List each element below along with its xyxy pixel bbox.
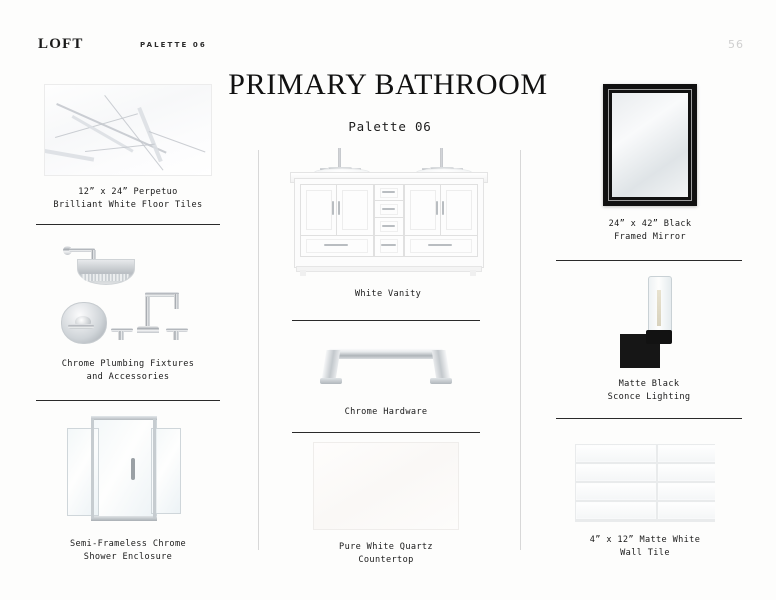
divider-center-2 bbox=[292, 432, 480, 433]
item-chrome-hardware: Chrome Hardware bbox=[312, 336, 460, 419]
black-sconce-image bbox=[612, 272, 686, 368]
caption-chrome-hardware: Chrome Hardware bbox=[312, 406, 460, 419]
divider-right-2 bbox=[556, 418, 742, 419]
item-wall-tile: 4” x 12” Matte White Wall Tile bbox=[575, 444, 732, 559]
white-subway-tile-image bbox=[575, 444, 715, 522]
quartz-swatch-image bbox=[314, 443, 458, 529]
caption-wall-tile: 4” x 12” Matte White Wall Tile bbox=[558, 534, 732, 559]
column-divider-right bbox=[520, 150, 521, 550]
item-black-framed-mirror: 24” x 42” Black Framed Mirror bbox=[603, 84, 737, 243]
caption-quartz-countertop: Pure White Quartz Countertop bbox=[314, 541, 458, 566]
caption-black-framed-mirror: 24” x 42” Black Framed Mirror bbox=[563, 218, 737, 243]
glass-shower-enclosure-image bbox=[45, 414, 211, 526]
caption-plumbing-fixtures: Chrome Plumbing Fixtures and Accessories bbox=[45, 358, 211, 383]
divider-left-1 bbox=[36, 224, 220, 225]
item-plumbing-fixtures: Chrome Plumbing Fixtures and Accessories bbox=[45, 232, 211, 383]
palette-board-page: LOFT PALETTE 06 56 PRIMARY BATHROOM Pale… bbox=[0, 0, 776, 600]
chrome-cabinet-pull-image bbox=[312, 336, 460, 394]
divider-left-2 bbox=[36, 400, 220, 401]
caption-black-sconce: Matte Black Sconce Lighting bbox=[562, 378, 736, 403]
caption-floor-tile: 12” x 24” Perpetuo Brilliant White Floor… bbox=[45, 186, 211, 211]
brand-logo: LOFT bbox=[38, 36, 84, 53]
column-divider-left bbox=[258, 150, 259, 550]
marble-tile-swatch-image bbox=[45, 85, 211, 175]
divider-right-1 bbox=[556, 260, 742, 261]
chrome-fixtures-image bbox=[45, 232, 211, 350]
black-framed-mirror-image bbox=[603, 84, 697, 206]
item-floor-tile: 12” x 24” Perpetuo Brilliant White Floor… bbox=[45, 85, 211, 211]
caption-white-vanity: White Vanity bbox=[290, 288, 486, 301]
item-black-sconce: Matte Black Sconce Lighting bbox=[612, 272, 736, 403]
page-number: 56 bbox=[728, 38, 744, 51]
white-double-vanity-image bbox=[290, 145, 486, 277]
item-shower-enclosure: Semi-Frameless Chrome Shower Enclosure bbox=[45, 414, 211, 563]
divider-center-1 bbox=[292, 320, 480, 321]
caption-shower-enclosure: Semi-Frameless Chrome Shower Enclosure bbox=[45, 538, 211, 563]
page-subtitle: Palette 06 bbox=[230, 119, 550, 134]
item-quartz-countertop: Pure White Quartz Countertop bbox=[314, 443, 458, 566]
item-white-vanity: White Vanity bbox=[290, 145, 486, 301]
header-palette-tag: PALETTE 06 bbox=[140, 41, 207, 49]
